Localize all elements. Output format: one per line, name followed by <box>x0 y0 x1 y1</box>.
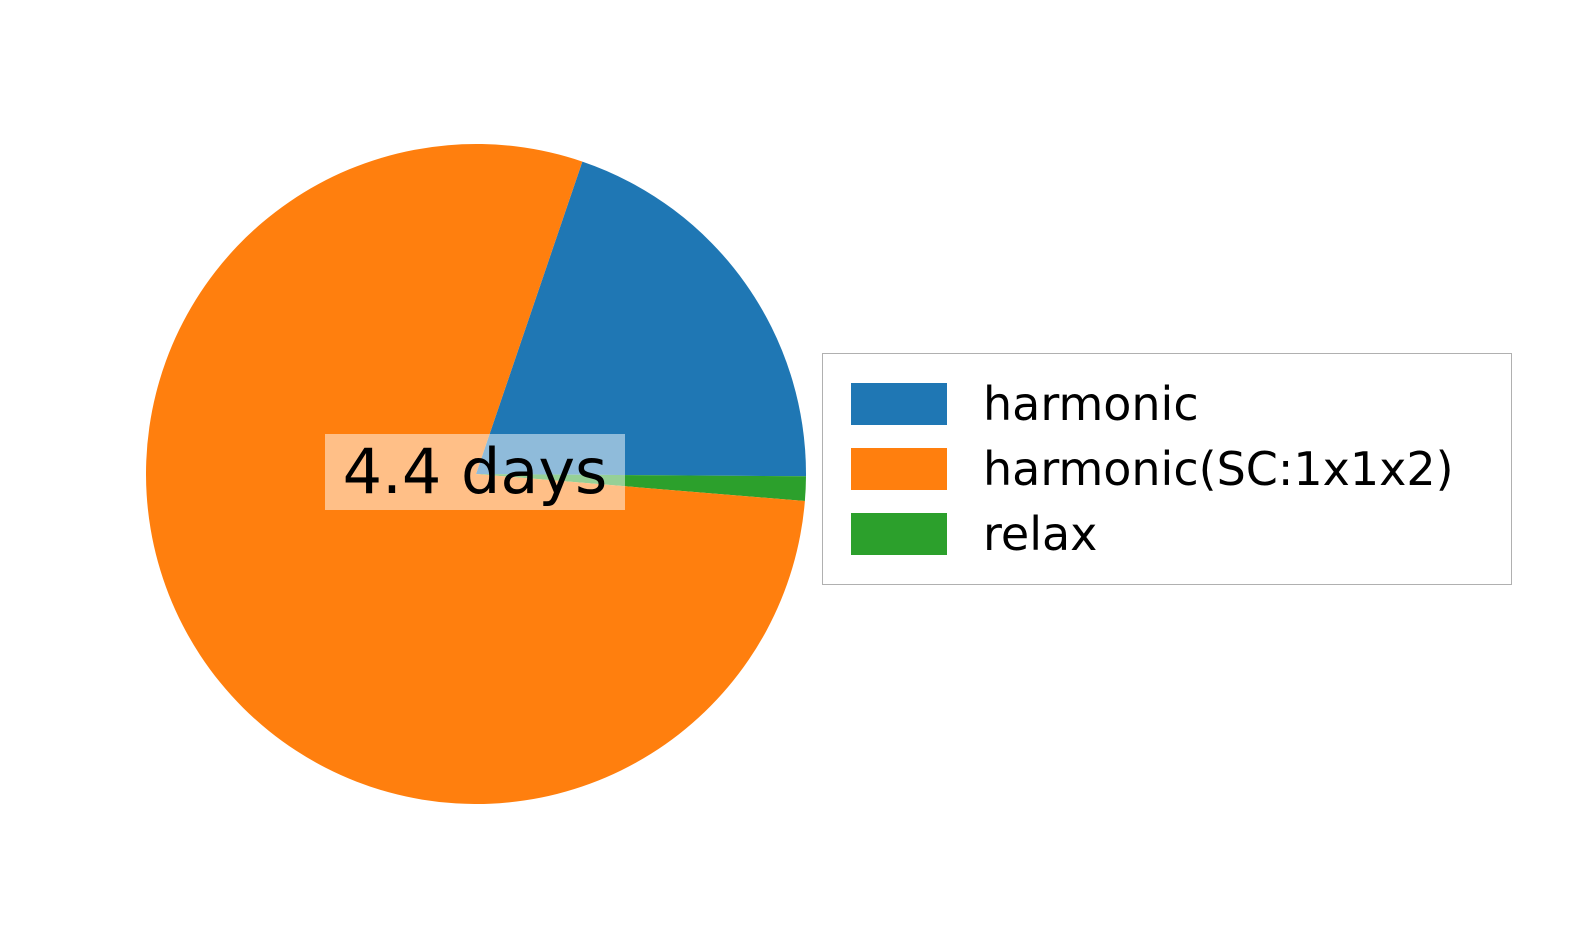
legend-label-relax: relax <box>983 511 1097 557</box>
figure-canvas: 4.4 days harmonic harmonic(SC:1x1x2) rel… <box>0 0 1584 951</box>
legend-swatch-harmonic-sc <box>851 448 947 490</box>
legend-swatch-harmonic <box>851 383 947 425</box>
legend-swatch-relax <box>851 513 947 555</box>
center-label-text: 4.4 days <box>343 441 608 503</box>
legend-box: harmonic harmonic(SC:1x1x2) relax <box>822 353 1512 585</box>
legend-label-harmonic-sc: harmonic(SC:1x1x2) <box>983 446 1454 492</box>
legend-label-harmonic: harmonic <box>983 381 1199 427</box>
legend-item-relax[interactable]: relax <box>823 506 1511 562</box>
legend-item-harmonic[interactable]: harmonic <box>823 376 1511 432</box>
legend-item-harmonic-sc[interactable]: harmonic(SC:1x1x2) <box>823 441 1511 497</box>
center-label-box: 4.4 days <box>325 434 625 510</box>
